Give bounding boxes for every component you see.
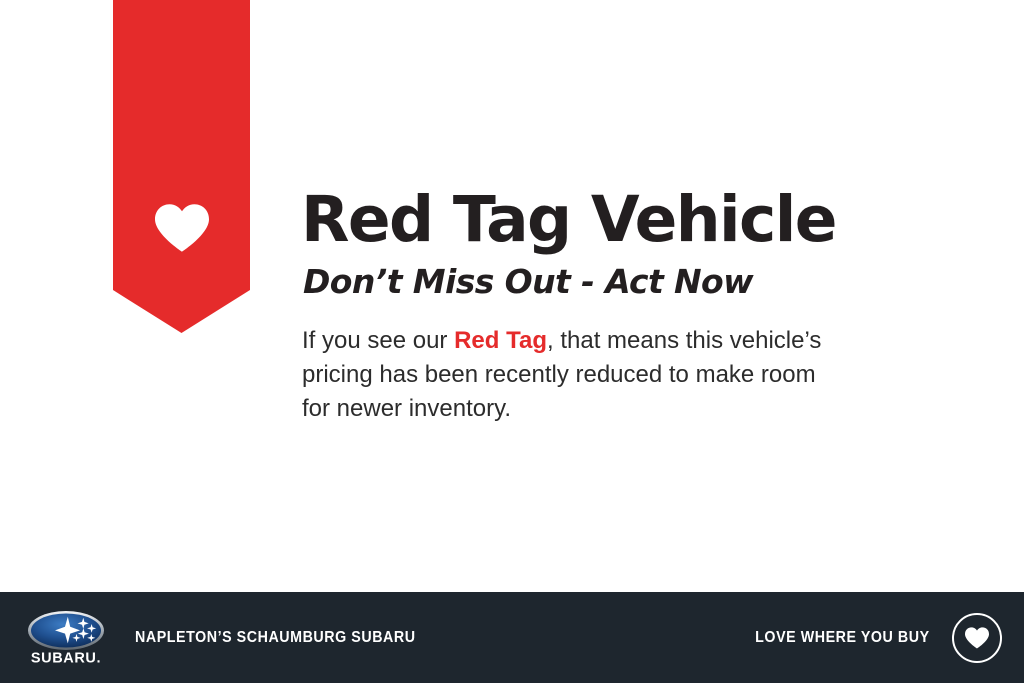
page-title: Red Tag Vehicle bbox=[301, 188, 941, 251]
promo-description: If you see our Red Tag, that means this … bbox=[302, 324, 822, 426]
subaru-logo: SUBARU. bbox=[27, 610, 105, 666]
svg-text:SUBARU.: SUBARU. bbox=[31, 650, 101, 666]
red-tag-ribbon bbox=[113, 0, 250, 333]
dealer-name: NAPLETON’S SCHAUMBURG SUBARU bbox=[135, 629, 416, 647]
heart-badge bbox=[952, 613, 1002, 663]
footer-left-group: SUBARU. NAPLETON’S SCHAUMBURG SUBARU bbox=[0, 610, 440, 666]
footer-tagline: LOVE WHERE YOU BUY bbox=[756, 629, 930, 647]
promo-banner: Red Tag Vehicle Don’t Miss Out - Act Now… bbox=[0, 0, 1024, 683]
red-tag-highlight: Red Tag bbox=[454, 327, 547, 354]
heart-icon bbox=[155, 203, 209, 253]
promo-content: Red Tag Vehicle Don’t Miss Out - Act Now… bbox=[301, 188, 941, 426]
heart-icon bbox=[965, 627, 989, 649]
footer-right-group: LOVE WHERE YOU BUY bbox=[740, 613, 1024, 663]
footer-bar: SUBARU. NAPLETON’S SCHAUMBURG SUBARU LOV… bbox=[0, 592, 1024, 683]
description-before: If you see our bbox=[302, 327, 454, 354]
promo-subtitle: Don’t Miss Out - Act Now bbox=[303, 265, 941, 298]
